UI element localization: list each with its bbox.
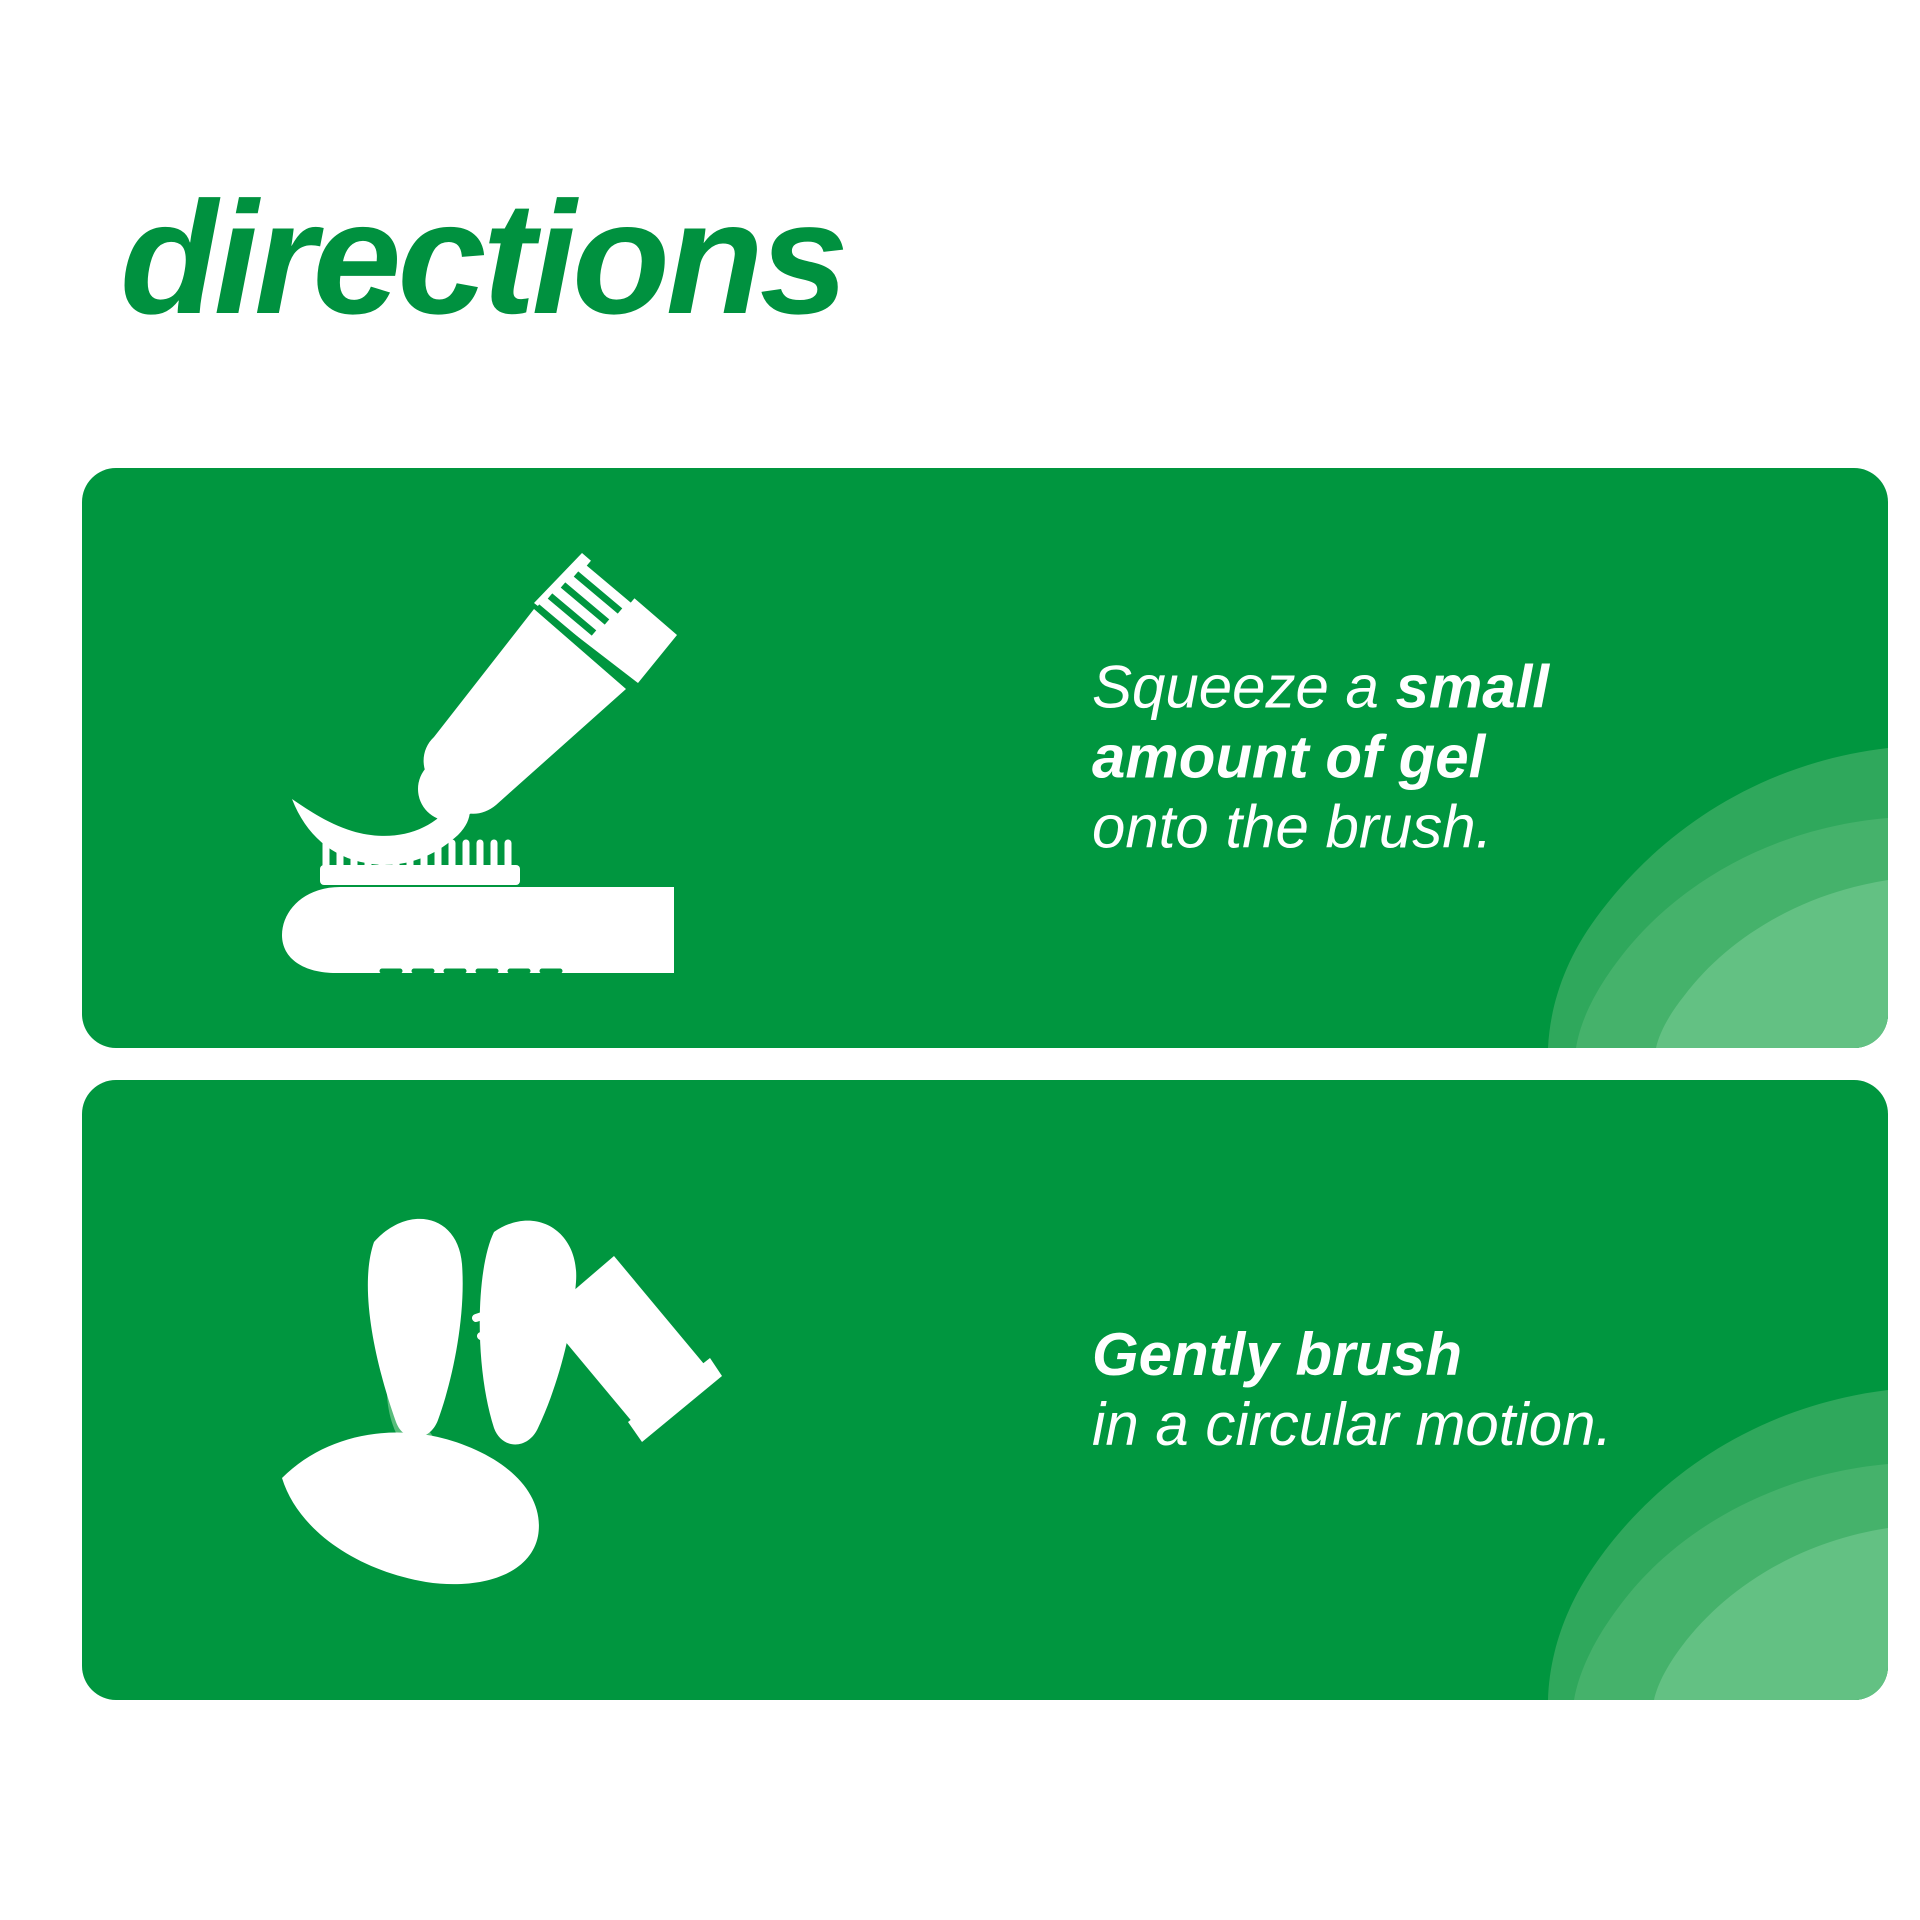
step-2-text: Gently brush in a circular motion. [1092, 1320, 1832, 1460]
page-title: directions [120, 178, 845, 338]
step-2-line-1: Gently brush [1092, 1320, 1832, 1390]
toothpaste-tube-squeezing-onto-toothbrush-icon [282, 543, 702, 973]
direction-step-1-panel: Squeeze a small amount of gel onto the b… [82, 468, 1888, 1048]
step-2-illustration [252, 1080, 732, 1700]
step-1-text: Squeeze a small amount of gel onto the b… [1092, 653, 1832, 864]
step-2-line-2: in a circular motion. [1092, 1390, 1832, 1460]
step-1-illustration [252, 468, 732, 1048]
step-1-line-1-bold: small [1396, 654, 1549, 721]
directions-infographic: directions [0, 0, 1920, 1920]
step-1-line-1: Squeeze a small [1092, 653, 1832, 723]
step-1-line-2: amount of gel [1092, 723, 1832, 793]
toothbrush-circular-motion-on-teeth-icon [262, 1190, 722, 1590]
direction-step-2-panel: Gently brush in a circular motion. [82, 1080, 1888, 1700]
step-1-line-1-normal: Squeeze a [1092, 654, 1396, 721]
step-1-line-3: onto the brush. [1092, 793, 1832, 863]
